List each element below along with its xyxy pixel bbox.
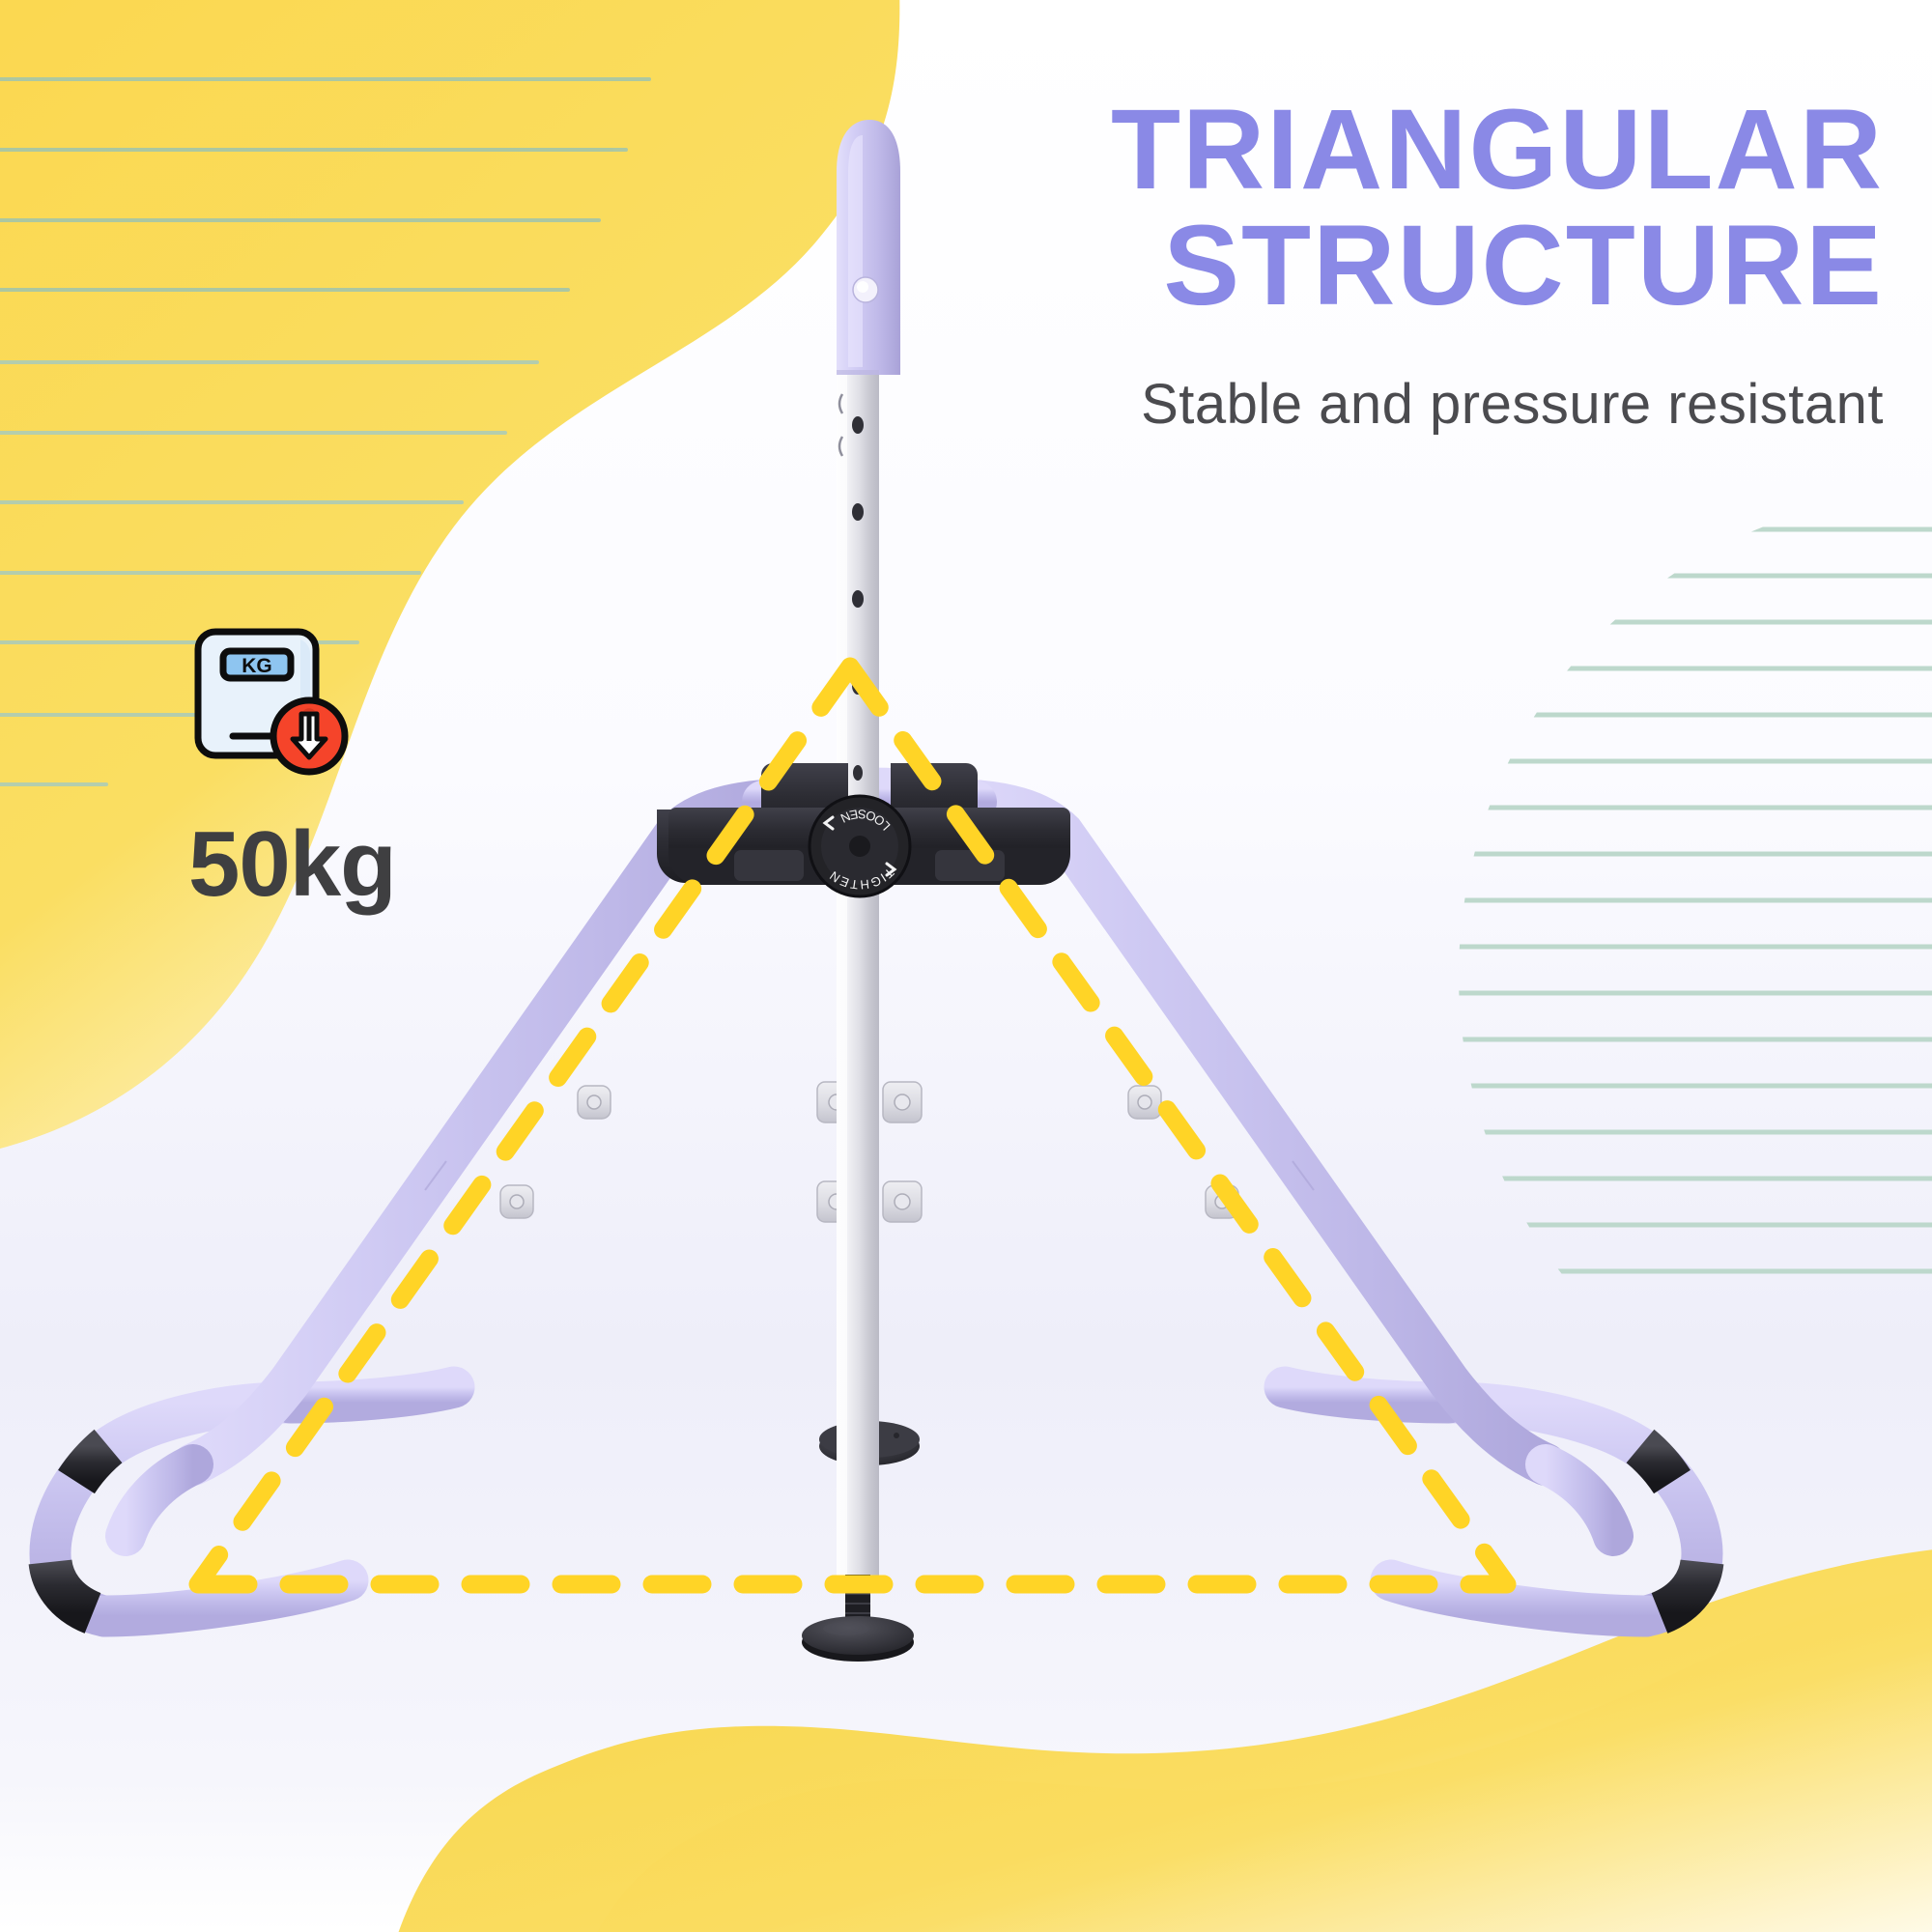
page-title-line-1: TRIANGULAR — [884, 92, 1884, 208]
clamp-knob[interactable]: TIGHTEN LOOSEN — [810, 796, 910, 896]
weight-capacity-block: KG 50kg — [188, 618, 507, 911]
scale-display-label: KG — [241, 655, 272, 677]
product-marketing-banner: TIGHTEN LOOSEN — [0, 0, 1932, 1932]
weight-capacity-value: 50kg — [188, 818, 507, 911]
weight-scale-icon: KG — [188, 618, 372, 792]
page-title-line-2: STRUCTURE — [884, 208, 1884, 324]
page-title: TRIANGULAR STRUCTURE — [884, 92, 1884, 325]
page-subtitle: Stable and pressure resistant — [773, 372, 1884, 437]
